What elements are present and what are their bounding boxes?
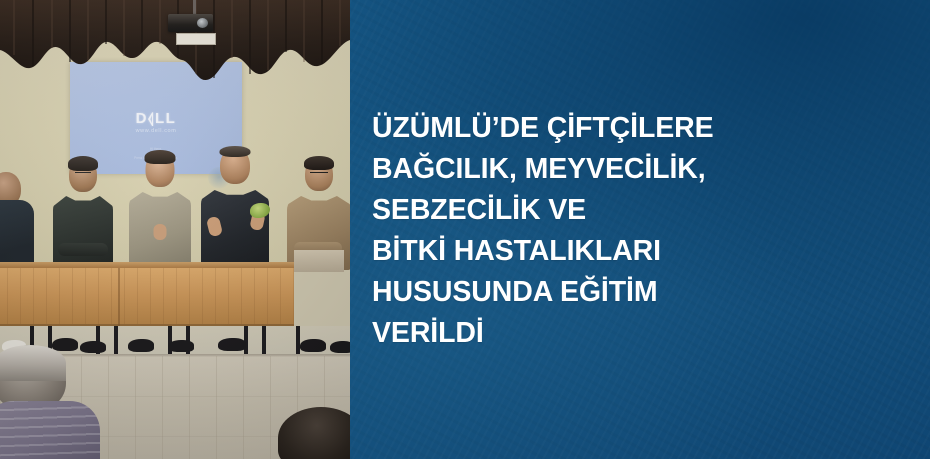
seated-person	[0, 154, 34, 270]
headline-line-6: VERİLDİ	[372, 313, 922, 354]
shoe	[128, 339, 154, 352]
headline-line-5: HUSUSUNDA EĞİTİM	[372, 272, 922, 313]
eyeglasses-icon	[75, 172, 91, 173]
headline-panel: ÜZÜMLÜ’DE ÇİFTÇİLERE BAĞCILIK, MEYVECİLİ…	[350, 0, 930, 459]
ceiling-projector-icon	[168, 14, 213, 32]
audience-member-foreground	[0, 345, 106, 459]
news-photo: D⦉LL www.dell.com Hi there. Press Menu t…	[0, 0, 350, 459]
seated-panel-group	[0, 150, 350, 270]
clasped-hands	[154, 224, 167, 240]
headline-line-1: ÜZÜMLÜ’DE ÇİFTÇİLERE	[372, 108, 922, 149]
headline-line-2: BAĞCILIK, MEYVECİLİK,	[372, 149, 922, 190]
shoe	[330, 341, 350, 353]
headline-block: ÜZÜMLÜ’DE ÇİFTÇİLERE BAĞCILIK, MEYVECİLİ…	[372, 108, 922, 354]
headline-line-3: SEBZECİLİK VE	[372, 190, 922, 231]
shoe	[300, 339, 326, 352]
grey-hair	[0, 345, 66, 381]
shoe	[168, 340, 194, 352]
seated-person	[286, 150, 350, 270]
hair	[220, 146, 251, 157]
hair	[304, 156, 334, 170]
dell-logo: D⦉LL	[70, 110, 242, 127]
crossed-arms	[58, 243, 108, 256]
wooden-table-front	[0, 268, 294, 326]
seated-person-speaker	[200, 146, 270, 270]
news-card: D⦉LL www.dell.com Hi there. Press Menu t…	[0, 0, 930, 459]
headline-line-4: BİTKİ HASTALIKLARI	[372, 231, 922, 272]
table-panel-seam	[118, 268, 120, 326]
trousers	[294, 250, 344, 272]
seated-person	[52, 152, 114, 270]
shoe	[218, 338, 246, 351]
eyeglasses-icon	[310, 172, 328, 173]
hair	[145, 150, 176, 164]
striped-shirt	[0, 401, 100, 459]
hair	[68, 156, 98, 171]
seated-person	[128, 148, 192, 270]
projector-label-card	[176, 33, 216, 45]
dell-url-text: www.dell.com	[70, 128, 242, 134]
